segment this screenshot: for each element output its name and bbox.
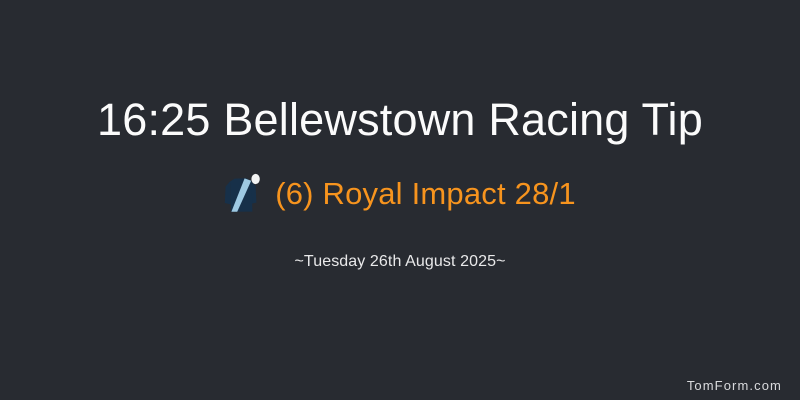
tip-selection-label: (6) Royal Impact 28/1 bbox=[275, 178, 576, 209]
jockey-silks-icon bbox=[224, 173, 262, 213]
page-title: 16:25 Bellewstown Racing Tip bbox=[97, 96, 703, 143]
site-watermark: TomForm.com bbox=[687, 379, 782, 392]
tip-selection-row[interactable]: (6) Royal Impact 28/1 bbox=[224, 173, 576, 213]
race-date: ~Tuesday 26th August 2025~ bbox=[294, 253, 505, 271]
racing-tip-card: 16:25 Bellewstown Racing Tip (6) Royal I… bbox=[0, 0, 800, 400]
